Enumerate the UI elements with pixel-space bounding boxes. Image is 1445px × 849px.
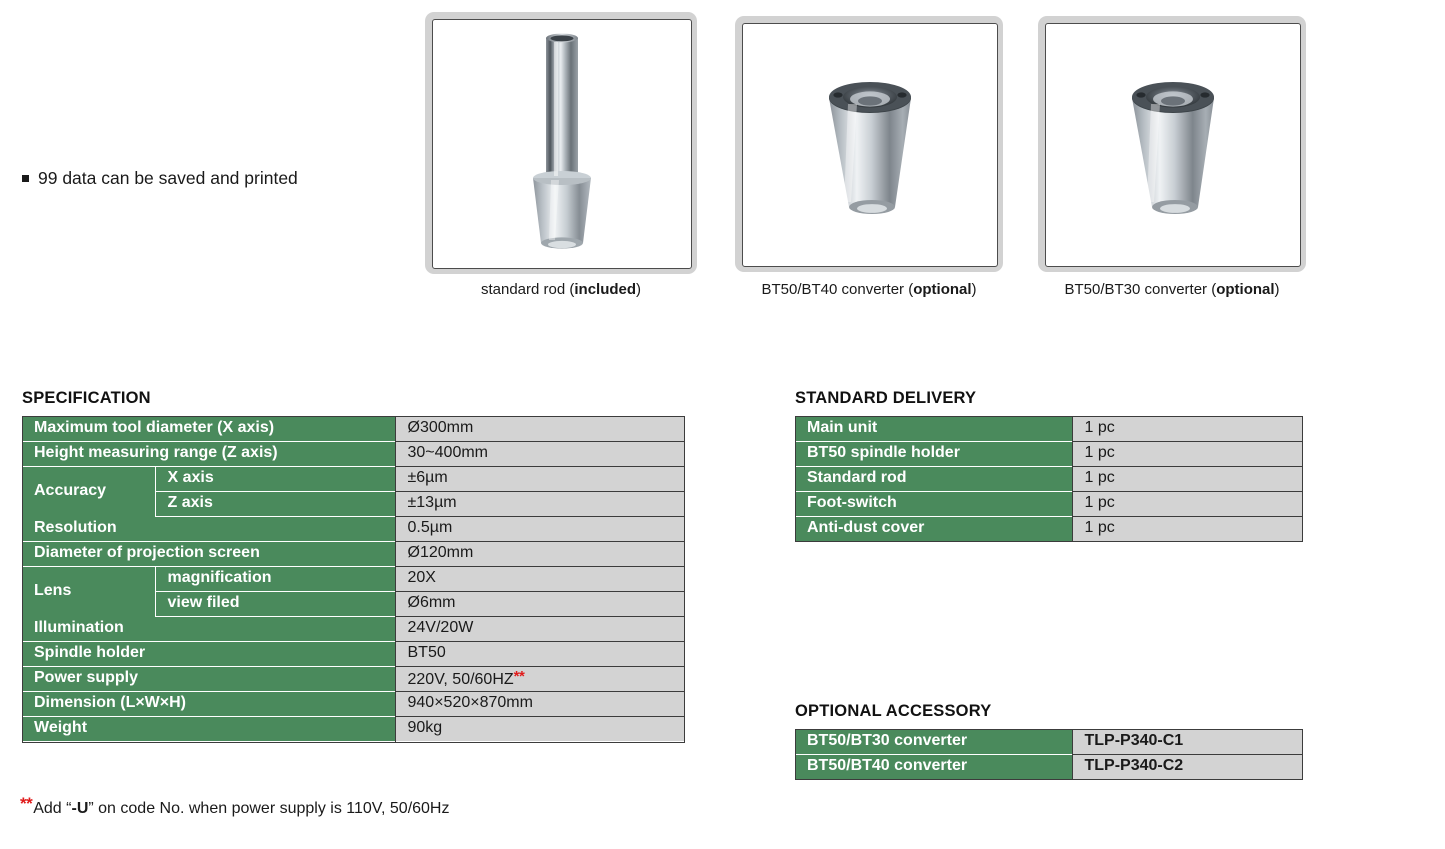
table-row: Dimension (L×W×H) 940×520×870mm — [22, 691, 685, 716]
bt50-bt30-converter-photo — [1046, 24, 1300, 266]
square-bullet-icon — [22, 175, 29, 182]
delivery-key-foot-switch: Foot-switch — [795, 491, 1072, 516]
spec-key-dimension: Dimension (L×W×H) — [22, 691, 395, 716]
spec-value-projection-screen-diameter: Ø120mm — [395, 541, 685, 566]
spec-group-accuracy: Accuracy — [22, 466, 155, 516]
spec-key-illumination: Illumination — [22, 616, 395, 641]
optional-accessory-table: BT50/BT30 converter TLP-P340-C1 BT50/BT4… — [795, 729, 1303, 779]
product-caption-bt50-bt30-converter: BT50/BT30 converter (optional) — [1026, 281, 1318, 298]
table-row: Height measuring range (Z axis) 30~400mm — [22, 441, 685, 466]
footnote-asterisk-icon: ** — [20, 794, 32, 813]
delivery-value-main-unit: 1 pc — [1072, 416, 1303, 441]
product-image-frame-standard-rod — [425, 12, 697, 274]
table-row: Diameter of projection screen Ø120mm — [22, 541, 685, 566]
caption-prefix: BT50/BT40 converter ( — [761, 281, 913, 298]
product-image-inner-standard-rod — [432, 19, 692, 269]
caption-prefix: BT50/BT30 converter ( — [1064, 281, 1216, 298]
spec-value-accuracy-z: ±13µm — [395, 491, 685, 516]
product-image-frame-bt50-bt30-converter — [1038, 16, 1306, 272]
product-image-inner-bt50-bt30-converter — [1045, 23, 1301, 267]
spec-value-max-tool-diameter: Ø300mm — [395, 416, 685, 441]
spec-key-weight: Weight — [22, 716, 395, 741]
table-row: BT50/BT30 converter TLP-P340-C1 — [795, 729, 1303, 754]
bt50-bt40-converter-photo — [743, 24, 997, 266]
spec-group-lens: Lens — [22, 566, 155, 616]
optional-accessory-heading: OPTIONAL ACCESSORY — [795, 702, 991, 721]
caption-suffix: ) — [1275, 281, 1280, 298]
spec-value-magnification: 20X — [395, 566, 685, 591]
feature-bullet-item: 99 data can be saved and printed — [22, 168, 298, 189]
table-row: Accuracy X axis ±6µm — [22, 466, 685, 491]
optional-value-bt50-bt40-converter: TLP-P340-C2 — [1072, 754, 1303, 779]
table-row: Lens magnification 20X — [22, 566, 685, 591]
spec-key-height-measuring-range: Height measuring range (Z axis) — [22, 441, 395, 466]
specification-heading: SPECIFICATION — [22, 389, 151, 408]
table-row: BT50/BT40 converter TLP-P340-C2 — [795, 754, 1303, 779]
product-image-frame-bt50-bt40-converter — [735, 16, 1003, 272]
delivery-value-anti-dust-cover: 1 pc — [1072, 516, 1303, 541]
spec-value-accuracy-x: ±6µm — [395, 466, 685, 491]
table-row: Maximum tool diameter (X axis) Ø300mm — [22, 416, 685, 441]
footnote-text-part2: ” on code No. when power supply is 110V,… — [88, 800, 449, 817]
spec-value-power-supply: 220V, 50/60HZ** — [395, 666, 685, 691]
caption-suffix: ) — [636, 281, 641, 298]
product-caption-standard-rod: standard rod (included) — [425, 281, 697, 298]
spec-value-illumination: 24V/20W — [395, 616, 685, 641]
caption-suffix: ) — [972, 281, 977, 298]
specification-table: Maximum tool diameter (X axis) Ø300mm He… — [22, 416, 685, 741]
product-image-inner-bt50-bt40-converter — [742, 23, 998, 267]
caption-emphasis: optional — [913, 281, 971, 298]
caption-prefix: standard rod ( — [481, 281, 574, 298]
delivery-key-standard-rod: Standard rod — [795, 466, 1072, 491]
spec-value-spindle-holder: BT50 — [395, 641, 685, 666]
spec-value-height-measuring-range: 30~400mm — [395, 441, 685, 466]
standard-delivery-heading: STANDARD DELIVERY — [795, 389, 976, 408]
spec-subkey-x-axis: X axis — [155, 466, 395, 491]
feature-bullet-text: 99 data can be saved and printed — [38, 168, 298, 188]
footnote-marker-icon: ** — [514, 668, 525, 685]
table-row: Weight 90kg — [22, 716, 685, 741]
caption-emphasis: optional — [1216, 281, 1274, 298]
product-caption-bt50-bt40-converter: BT50/BT40 converter (optional) — [723, 281, 1015, 298]
footnote-text-part1: Add “ — [33, 800, 71, 817]
spec-key-power-supply: Power supply — [22, 666, 395, 691]
optional-value-bt50-bt30-converter: TLP-P340-C1 — [1072, 729, 1303, 754]
spec-key-spindle-holder: Spindle holder — [22, 641, 395, 666]
specification-footnote: **Add “-U” on code No. when power supply… — [20, 794, 449, 818]
table-row: Foot-switch 1 pc — [795, 491, 1303, 516]
table-row: Spindle holder BT50 — [22, 641, 685, 666]
spec-value-view-filed: Ø6mm — [395, 591, 685, 616]
spec-value-resolution: 0.5µm — [395, 516, 685, 541]
table-row: BT50 spindle holder 1 pc — [795, 441, 1303, 466]
spec-key-projection-screen-diameter: Diameter of projection screen — [22, 541, 395, 566]
footnote-emphasis: -U — [71, 800, 88, 817]
spec-key-max-tool-diameter: Maximum tool diameter (X axis) — [22, 416, 395, 441]
table-row: Power supply 220V, 50/60HZ** — [22, 666, 685, 691]
delivery-key-main-unit: Main unit — [795, 416, 1072, 441]
table-row: Main unit 1 pc — [795, 416, 1303, 441]
delivery-value-foot-switch: 1 pc — [1072, 491, 1303, 516]
table-row: Standard rod 1 pc — [795, 466, 1303, 491]
spec-subkey-view-filed: view filed — [155, 591, 395, 616]
spec-value-power-supply-text: 220V, 50/60HZ — [408, 671, 514, 688]
delivery-value-bt50-spindle-holder: 1 pc — [1072, 441, 1303, 466]
delivery-value-standard-rod: 1 pc — [1072, 466, 1303, 491]
spec-key-resolution: Resolution — [22, 516, 395, 541]
caption-emphasis: included — [574, 281, 636, 298]
table-row: Resolution 0.5µm — [22, 516, 685, 541]
optional-key-bt50-bt30-converter: BT50/BT30 converter — [795, 729, 1072, 754]
delivery-key-anti-dust-cover: Anti-dust cover — [795, 516, 1072, 541]
spec-subkey-magnification: magnification — [155, 566, 395, 591]
standard-delivery-table: Main unit 1 pc BT50 spindle holder 1 pc … — [795, 416, 1303, 541]
standard-rod-photo — [433, 20, 691, 268]
table-row: Illumination 24V/20W — [22, 616, 685, 641]
spec-value-dimension: 940×520×870mm — [395, 691, 685, 716]
table-row: Anti-dust cover 1 pc — [795, 516, 1303, 541]
delivery-key-bt50-spindle-holder: BT50 spindle holder — [795, 441, 1072, 466]
spec-subkey-z-axis: Z axis — [155, 491, 395, 516]
optional-key-bt50-bt40-converter: BT50/BT40 converter — [795, 754, 1072, 779]
spec-value-weight: 90kg — [395, 716, 685, 741]
